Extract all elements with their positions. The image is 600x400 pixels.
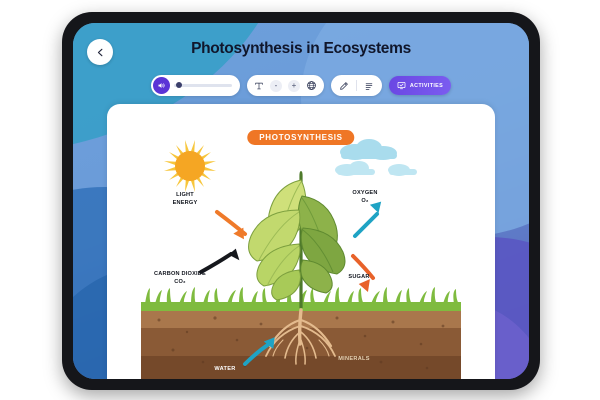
label-carbon-dioxide: CARBON DIOXIDE CO₂ <box>141 271 219 286</box>
diagram-badge: PHOTOSYNTHESIS <box>247 130 354 145</box>
pencil-icon[interactable] <box>339 81 349 91</box>
volume-slider[interactable] <box>174 84 232 87</box>
list-icon[interactable] <box>364 81 374 91</box>
arrow-light-energy <box>217 212 249 239</box>
activities-button[interactable]: ACTIVITIES <box>389 76 451 95</box>
lesson-toolbar: - + <box>73 75 529 96</box>
annotation-tools-group <box>331 75 382 96</box>
globe-icon[interactable] <box>306 80 317 91</box>
label-water: WATER <box>199 366 251 372</box>
sun-icon <box>164 140 216 192</box>
label-sugar: SUGAR <box>333 274 385 282</box>
text-format-icon[interactable] <box>254 81 264 91</box>
speaker-icon[interactable] <box>153 77 170 94</box>
text-decrease-button[interactable]: - <box>270 80 282 92</box>
volume-slider-knob[interactable] <box>176 82 182 88</box>
text-increase-button[interactable]: + <box>288 80 300 92</box>
toolbar-divider <box>356 80 357 91</box>
label-oxygen: OXYGEN O₂ <box>339 190 391 205</box>
tablet-screen: Photosynthesis in Ecosystems <box>73 23 529 379</box>
page-title: Photosynthesis in Ecosystems <box>73 40 529 58</box>
label-light-energy: LIGHT ENERGY <box>159 192 211 207</box>
plant-leaves <box>249 180 345 300</box>
tablet-device-frame: Photosynthesis in Ecosystems <box>62 12 540 390</box>
label-minerals: MINERALS <box>323 356 385 362</box>
activities-label: ACTIVITIES <box>410 83 443 89</box>
lesson-content-card: PHOTOSYNTHESIS LIGHT ENERGY OXYGEN O₂ CA… <box>107 104 495 379</box>
arrow-carbon-dioxide <box>201 247 242 272</box>
volume-control-group <box>151 75 240 96</box>
screenshot-root: Photosynthesis in Ecosystems <box>0 0 600 400</box>
photosynthesis-diagram: PHOTOSYNTHESIS LIGHT ENERGY OXYGEN O₂ CA… <box>107 104 495 379</box>
soil-layer-bottom <box>141 356 461 379</box>
text-tools-group: - + <box>247 75 324 96</box>
photosynthesis-illustration <box>141 104 461 379</box>
screen-activity-icon <box>397 81 406 90</box>
